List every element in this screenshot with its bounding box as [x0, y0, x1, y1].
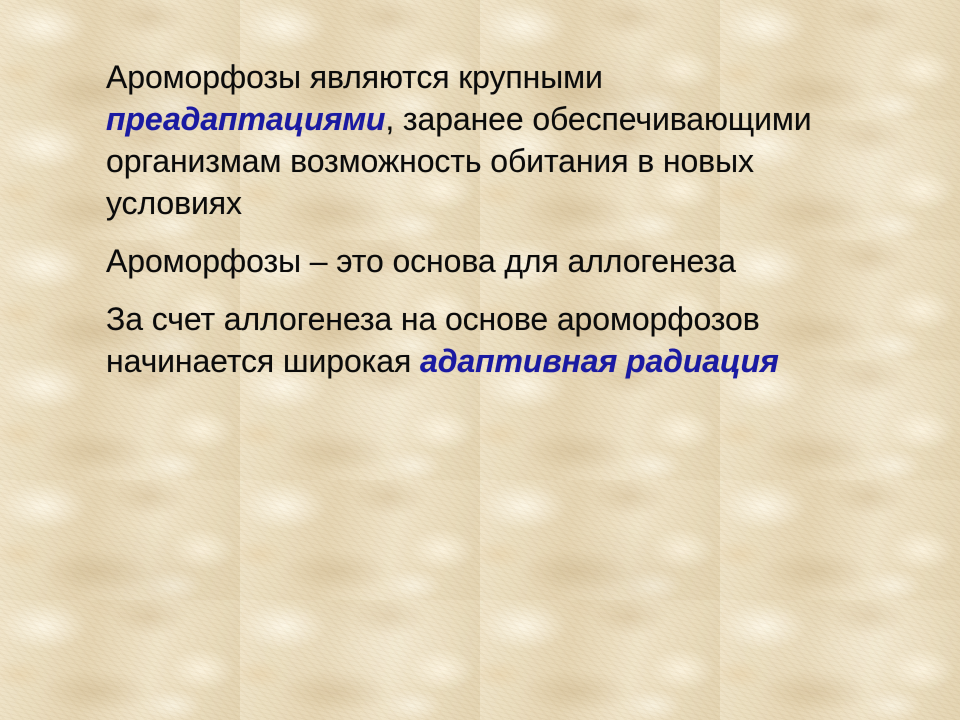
paragraph-2: Ароморфозы – это основа для аллогенеза	[106, 240, 896, 282]
paragraph-3-emphasis-adaptivnaya-radiatsiya: адаптивная радиация	[420, 343, 779, 379]
paragraph-1: Ароморфозы являются крупными преадаптаци…	[106, 56, 896, 224]
paragraph-2-run-1: Ароморфозы – это основа для аллогенеза	[106, 243, 736, 279]
slide-text-body: Ароморфозы являются крупными преадаптаци…	[106, 56, 896, 382]
presentation-slide: Ароморфозы являются крупными преадаптаци…	[0, 0, 960, 720]
paragraph-1-run-1: Ароморфозы являются крупными	[106, 59, 603, 95]
paragraph-1-emphasis-preadaptatsiyami: преадаптациями	[106, 101, 385, 137]
paragraph-3: За счет аллогенеза на основе ароморфозов…	[106, 298, 896, 382]
